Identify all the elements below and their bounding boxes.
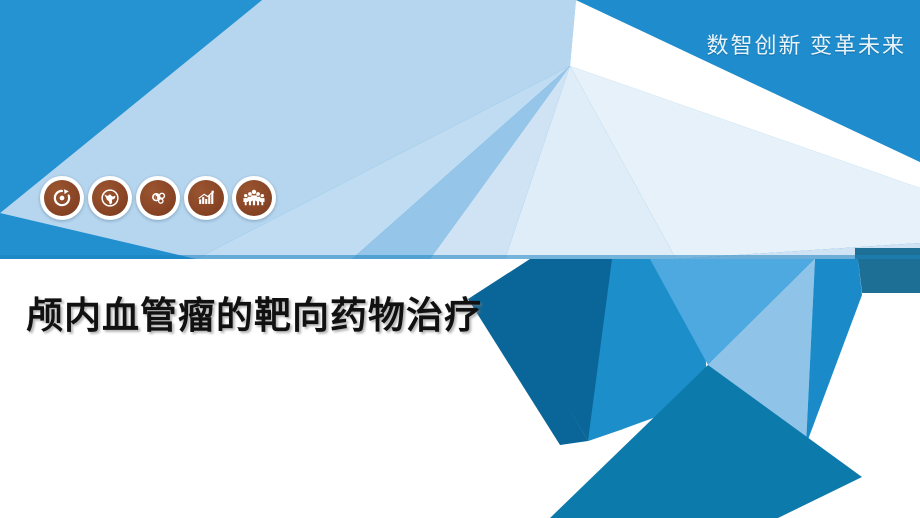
tagline: 数智创新 变革未来 xyxy=(706,28,906,60)
globe-icon xyxy=(92,180,128,216)
icon-badge-bar-chart[interactable] xyxy=(184,176,228,220)
icon-badge-target[interactable] xyxy=(40,176,84,220)
target-arrow-icon xyxy=(44,180,80,216)
polygon-composition xyxy=(0,0,920,518)
composition-band-shadow xyxy=(0,255,920,259)
presentation-slide: 数智创新 变革未来 xyxy=(0,0,920,518)
icon-badge-globe[interactable] xyxy=(88,176,132,220)
slide-title: 颅内血管瘤的靶向药物治疗 xyxy=(26,296,482,337)
icon-badge-gears[interactable] xyxy=(136,176,180,220)
gears-icon xyxy=(140,180,176,216)
people-group-icon xyxy=(236,180,272,216)
polygon-background xyxy=(0,0,920,518)
icon-row xyxy=(40,176,276,220)
icon-badge-people[interactable] xyxy=(232,176,276,220)
composition-navy-notch xyxy=(858,259,920,293)
bar-chart-icon xyxy=(188,180,224,216)
